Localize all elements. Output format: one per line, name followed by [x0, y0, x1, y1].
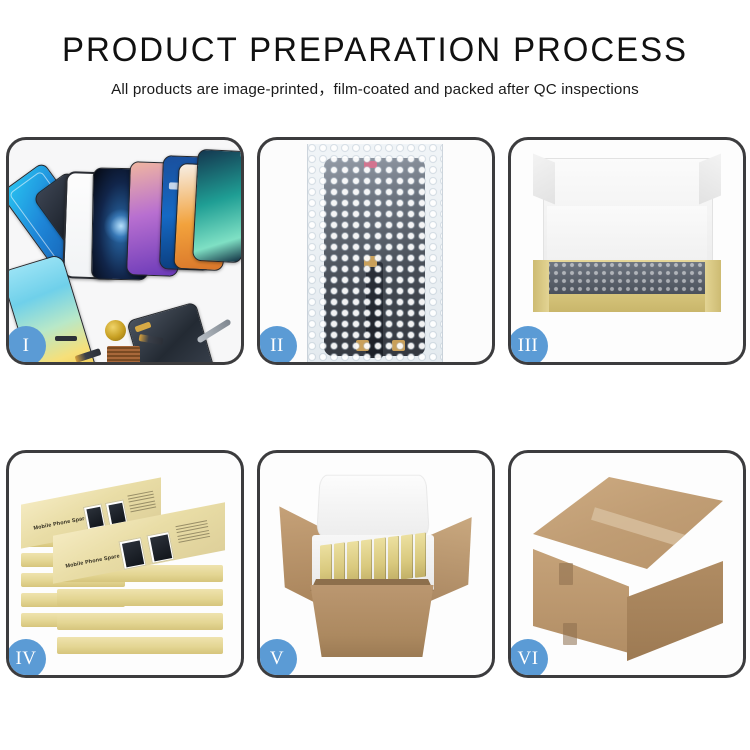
step-badge-6: VI: [508, 639, 548, 678]
cardboard-carton-open: [302, 585, 442, 657]
stacked-box-front-4: [57, 637, 223, 654]
step-2-image: [260, 140, 492, 362]
tray-lip-right: [705, 260, 721, 312]
stacked-box-front-2: [57, 589, 223, 606]
earpiece-part: [55, 336, 77, 341]
bubble-wrapped-contents: [545, 262, 709, 294]
bubble-texture: [308, 144, 442, 362]
step-panel-2[interactable]: II: [257, 137, 495, 365]
white-foam-insert: [547, 206, 707, 266]
copper-mesh-part: [107, 346, 140, 362]
bubble-wrap-bag: [307, 144, 443, 362]
packing-tape: [591, 507, 710, 555]
step-1-image: [9, 140, 241, 362]
step-badge-5: V: [257, 639, 297, 678]
lid-flap-right: [699, 154, 721, 205]
stacked-box-front-3: [57, 613, 223, 630]
retail-box-stack: Mobile Phone Spare Parts Mobile Phone Sp…: [17, 471, 239, 671]
step-panel-3[interactable]: III: [508, 137, 746, 365]
page-header: PRODUCT PREPARATION PROCESS All products…: [0, 0, 750, 99]
step-badge-1: I: [6, 326, 46, 365]
carton-seam-lower: [563, 623, 577, 645]
step-5-image: [260, 453, 492, 675]
step-panel-4[interactable]: Mobile Phone Spare Parts Mobile Phone Sp…: [6, 450, 244, 678]
speaker-coil-part: [105, 320, 126, 341]
step-badge-4: IV: [6, 639, 46, 678]
step-panel-6[interactable]: VI: [508, 450, 746, 678]
foam-lid: [316, 475, 430, 538]
step-3-image: [511, 140, 743, 362]
tray-lip-left: [533, 260, 549, 312]
step-panel-1[interactable]: I: [6, 137, 244, 365]
carton-front-face: [533, 549, 629, 653]
carton-seam-upper: [559, 563, 573, 585]
step-badge-2: II: [257, 326, 297, 365]
process-steps-grid: I II III: [6, 137, 746, 678]
page-subtitle: All products are image-printed，film-coat…: [0, 77, 750, 99]
step-4-image: Mobile Phone Spare Parts Mobile Phone Sp…: [9, 453, 241, 675]
phone-screen-teal: [192, 149, 241, 263]
page-title: PRODUCT PREPARATION PROCESS: [11, 30, 739, 70]
step-6-image: [511, 453, 743, 675]
step-panel-5[interactable]: V: [257, 450, 495, 678]
step-badge-3: III: [508, 326, 548, 365]
carton-top-face: [533, 477, 723, 569]
carton-side-face: [627, 561, 723, 661]
lid-flap-left: [533, 154, 555, 205]
